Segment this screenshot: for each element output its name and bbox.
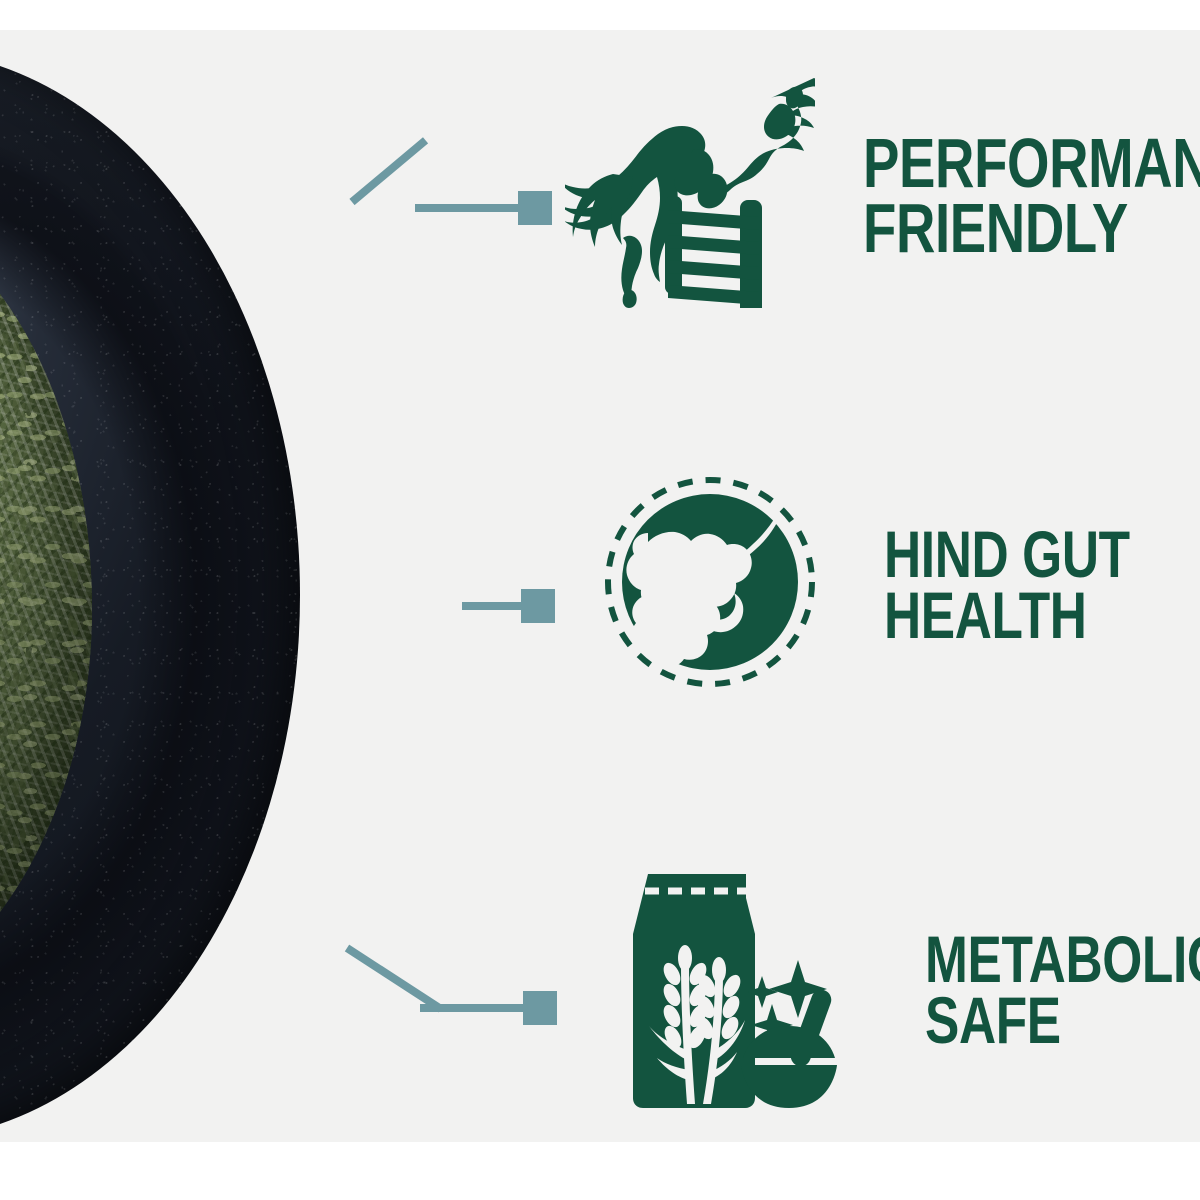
connector-node-square — [523, 991, 557, 1025]
connector-node-square — [518, 191, 552, 225]
feature-label-metabolic-safe: METABOLIC SAFE — [925, 929, 1200, 1050]
connector-horizontal-segment — [415, 204, 525, 212]
forage-pellets — [0, 198, 92, 1018]
feature-performance-friendly: PERFORMANCE FRIENDLY — [565, 78, 1200, 313]
top-white-margin — [0, 0, 1200, 30]
jumping-horse-over-fence-icon — [565, 78, 815, 313]
feature-metabolic-safe: METABOLIC SAFE — [615, 862, 1200, 1117]
bottom-white-margin — [0, 1142, 1200, 1200]
pellet-shading — [0, 198, 92, 1018]
feature-label-hind-gut-health: HIND GUT HEALTH — [884, 524, 1130, 645]
feed-bowl-photo — [0, 30, 520, 1145]
feature-label-performance-friendly: PERFORMANCE FRIENDLY — [863, 131, 1200, 260]
connector-node-square — [521, 589, 555, 623]
feature-hind-gut-health: HIND GUT HEALTH — [600, 472, 1199, 697]
feed-bag-wheat-bowl-icon — [615, 862, 845, 1117]
hind-gut-intestine-circle-icon — [600, 472, 820, 697]
product-infographic: PERFORMANCE FRIENDLY HIND GUT HEALTH — [0, 0, 1200, 1200]
bowl-vessel — [0, 50, 300, 1140]
connector-horizontal-segment — [420, 1004, 538, 1012]
